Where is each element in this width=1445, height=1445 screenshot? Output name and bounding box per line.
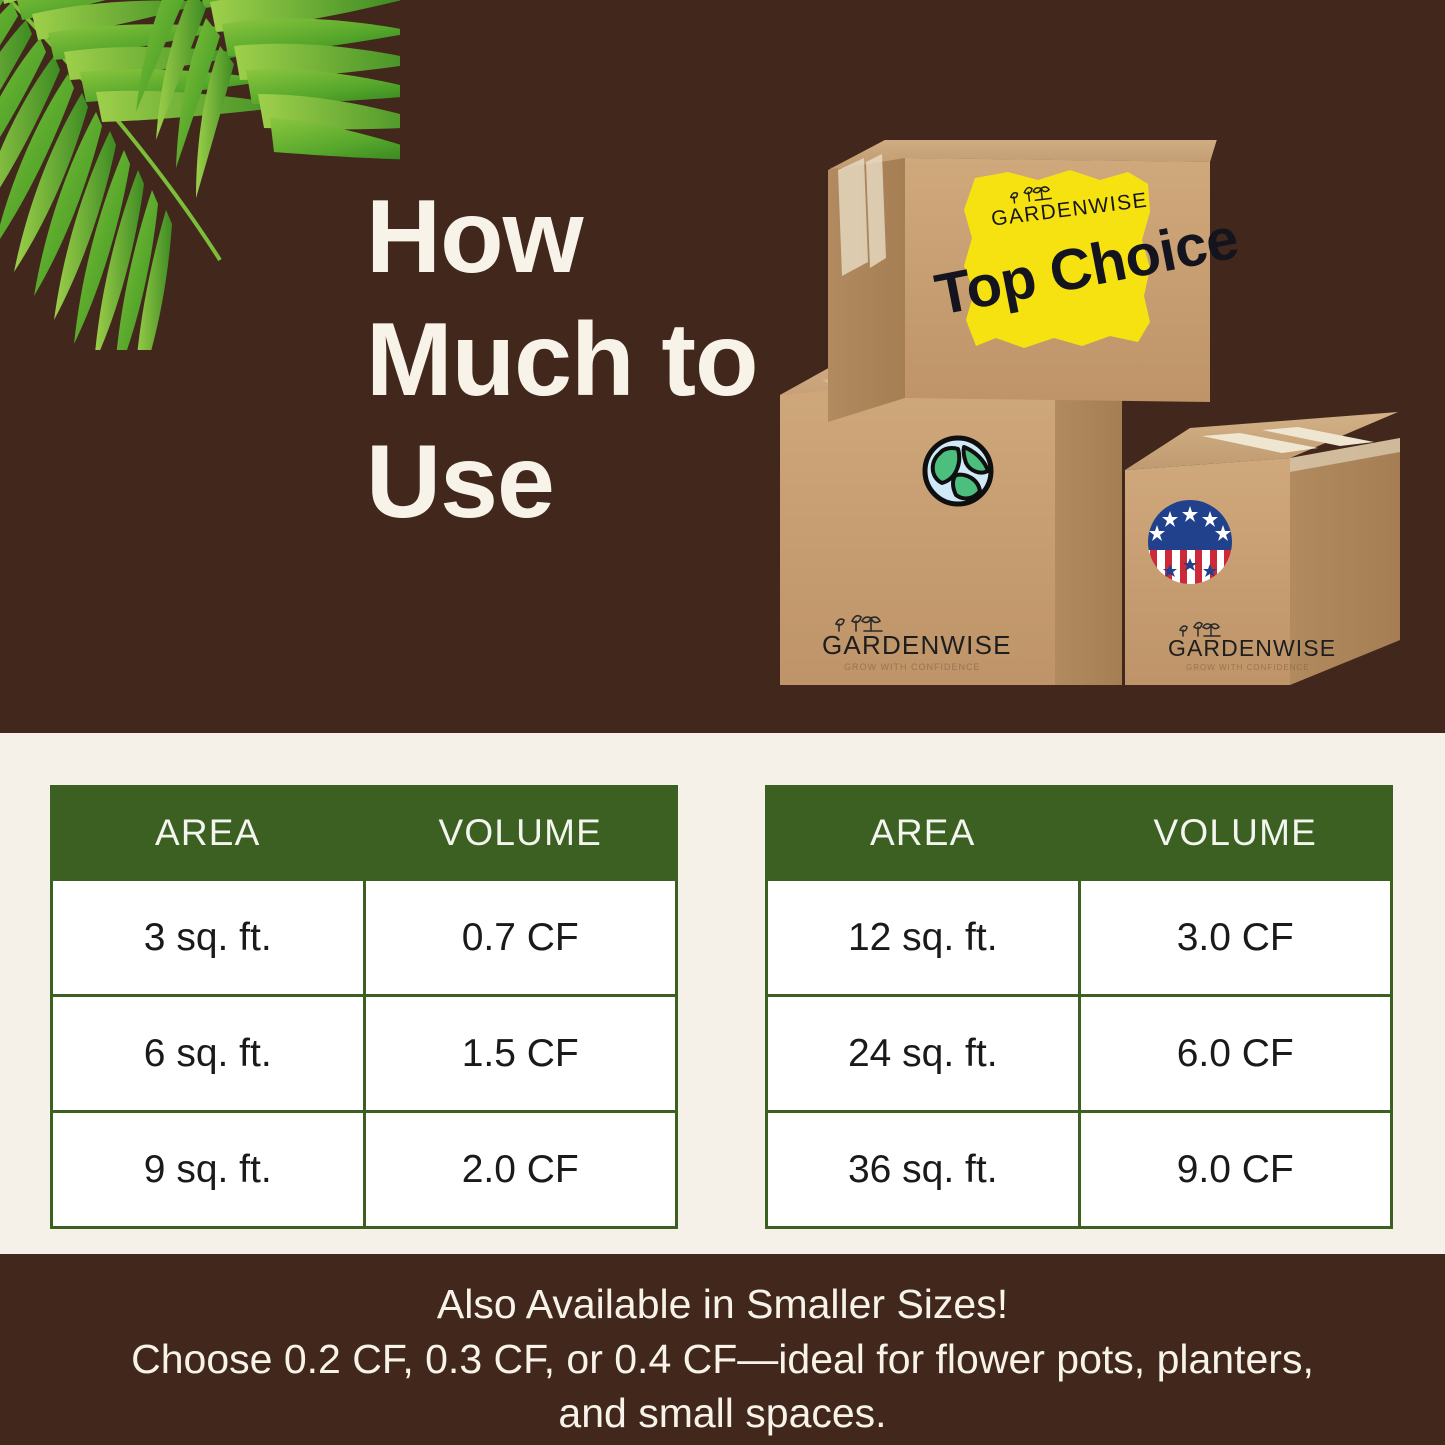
right-box: GARDENWISE GROW WITH CONFIDENCE	[1125, 412, 1400, 685]
footer-line-1: Also Available in Smaller Sizes!	[0, 1277, 1445, 1332]
cell-area: 12 sq. ft.	[767, 880, 1080, 996]
cell-area: 36 sq. ft.	[767, 1112, 1080, 1228]
page-title: How Much to Use	[366, 176, 726, 544]
earth-leaf-icon	[923, 436, 993, 506]
cell-volume: 1.5 CF	[364, 996, 677, 1112]
svg-text:GROW WITH CONFIDENCE: GROW WITH CONFIDENCE	[844, 662, 981, 672]
svg-text:GARDENWISE: GARDENWISE	[822, 630, 1012, 660]
header-volume: VOLUME	[1079, 787, 1392, 880]
title-line-2: Much to	[366, 299, 726, 422]
cell-area: 24 sq. ft.	[767, 996, 1080, 1112]
infographic-page: How Much to Use	[0, 0, 1445, 1445]
table-row: 36 sq. ft. 9.0 CF	[767, 1112, 1392, 1228]
cell-area: 9 sq. ft.	[52, 1112, 365, 1228]
cell-volume: 9.0 CF	[1079, 1112, 1392, 1228]
footer-line-2: Choose 0.2 CF, 0.3 CF, or 0.4 CF—ideal f…	[0, 1332, 1445, 1387]
table-row: 6 sq. ft. 1.5 CF	[52, 996, 677, 1112]
usa-flag-icon	[1148, 500, 1232, 584]
table-row: 12 sq. ft. 3.0 CF	[767, 880, 1392, 996]
svg-text:GROW WITH CONFIDENCE: GROW WITH CONFIDENCE	[1186, 663, 1310, 672]
header-area: AREA	[52, 787, 365, 880]
cell-volume: 0.7 CF	[364, 880, 677, 996]
cell-volume: 3.0 CF	[1079, 880, 1392, 996]
table-row: 24 sq. ft. 6.0 CF	[767, 996, 1392, 1112]
top-box: GARDENWISE Top Choice	[828, 140, 1243, 422]
cell-volume: 6.0 CF	[1079, 996, 1392, 1112]
cell-area: 6 sq. ft.	[52, 996, 365, 1112]
svg-text:GARDENWISE: GARDENWISE	[1168, 635, 1336, 661]
table-right: AREA VOLUME 12 sq. ft. 3.0 CF 24 sq. ft.…	[765, 785, 1393, 1229]
title-line-3: Use	[366, 421, 726, 544]
footer-line-3: and small spaces.	[0, 1386, 1445, 1441]
cell-volume: 2.0 CF	[364, 1112, 677, 1228]
header-volume: VOLUME	[364, 787, 677, 880]
table-row: 3 sq. ft. 0.7 CF	[52, 880, 677, 996]
table-left: AREA VOLUME 3 sq. ft. 0.7 CF 6 sq. ft. 1…	[50, 785, 678, 1229]
cell-area: 3 sq. ft.	[52, 880, 365, 996]
table-header-row: AREA VOLUME	[767, 787, 1392, 880]
title-line-1: How	[366, 176, 726, 299]
product-boxes-illustration: GARDENWISE GROW WITH CONFIDENCE	[770, 140, 1410, 685]
header-area: AREA	[767, 787, 1080, 880]
table-row: 9 sq. ft. 2.0 CF	[52, 1112, 677, 1228]
footer-note: Also Available in Smaller Sizes! Choose …	[0, 1277, 1445, 1441]
table-header-row: AREA VOLUME	[52, 787, 677, 880]
